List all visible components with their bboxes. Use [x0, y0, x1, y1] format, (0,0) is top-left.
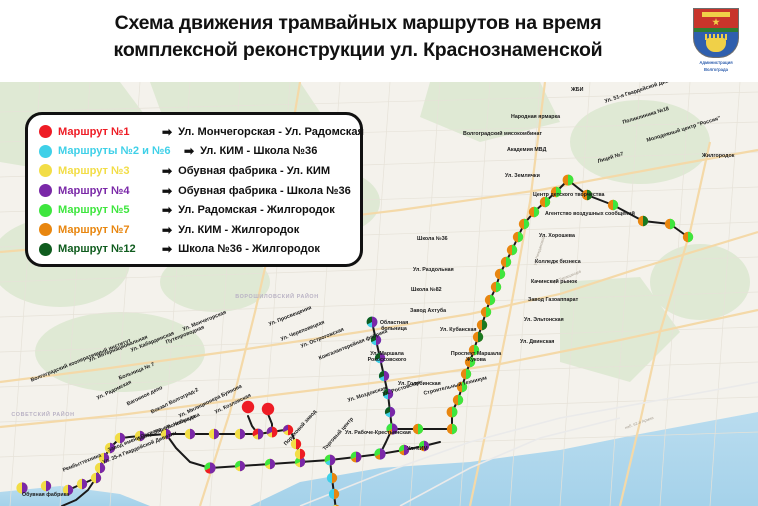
station-label-zemlyachki: Ул. Землячки — [505, 173, 540, 179]
arrow-icon: ➡ — [162, 203, 172, 217]
route-color-dot-3 — [39, 164, 52, 177]
route-desc-1: Ул. Мончегорская - Ул. Радомская — [178, 126, 364, 138]
route-color-dot-12 — [39, 243, 52, 256]
route-color-dot-5 — [39, 204, 52, 217]
emblem-caption-line1: Администрация — [688, 60, 744, 65]
markers-center-south — [204, 441, 429, 506]
station-label-akademiya-mvd: Академия МВД — [507, 147, 546, 153]
arrow-icon: ➡ — [162, 242, 172, 256]
title-line-1: Схема движения трамвайных маршрутов на в… — [48, 10, 668, 37]
legend-row-route-4[interactable]: Маршрут №4 ➡ Обувная фабрика - Школа №36 — [39, 181, 350, 201]
legend-row-route-1[interactable]: Маршрут №1 ➡ Ул. Мончегорская - Ул. Радо… — [39, 122, 350, 142]
tram-scheme-page: ВОРОШИЛОВСКИЙ РАЙОН СОВЕТСКИЙ РАЙОН ул. … — [0, 0, 758, 506]
arrow-icon: ➡ — [184, 144, 194, 158]
station-label-horosheva: Ул. Хорошева — [539, 233, 575, 239]
station-label-kolledzh-biznesa: Колледж бизнеса — [535, 259, 581, 265]
markers-west — [16, 401, 305, 495]
shield-graphic — [693, 8, 739, 58]
station-label-prospekt-zhukova: Проспект Маршала Жукова — [450, 351, 502, 363]
station-label-dvinskaya: Ул. Двинская — [520, 339, 554, 345]
station-label-razdolnaya: Ул. Раздольная — [413, 267, 454, 273]
route-name-12: Маршрут №12 — [58, 243, 162, 255]
route-desc-3: Обувная фабрика - Ул. КИМ — [178, 165, 330, 177]
legend-row-route-3[interactable]: Маршрут №3 ➡ Обувная фабрика - Ул. КИМ — [39, 161, 350, 181]
arrow-icon: ➡ — [162, 184, 172, 198]
route-desc-7: Ул. КИМ - Жилгородок — [178, 224, 299, 236]
route-desc-4: Обувная фабрика - Школа №36 — [178, 185, 351, 197]
arrow-icon: ➡ — [162, 223, 172, 237]
route-name-1: Маршрут №1 — [58, 126, 162, 138]
route-name-2-6: Маршруты №2 и №6 — [58, 145, 184, 157]
station-label-obuvnaya-fabrika: Обувная фабрика — [22, 492, 69, 498]
station-label-zhilgorodok: Жилгородок — [702, 153, 734, 159]
route-name-5: Маршрут №5 — [58, 204, 162, 216]
shield-wall-icon — [702, 12, 730, 17]
coat-of-arms-icon: Администрация Волгограда — [688, 8, 744, 76]
station-label-kachinskiy-rynok: Качинский рынок — [531, 279, 577, 285]
page-title: Схема движения трамвайных маршрутов на в… — [48, 10, 668, 64]
route-name-4: Маршрут №4 — [58, 185, 162, 197]
station-label-rokossovskogo: Ул. Маршала Рокоссовского — [358, 351, 416, 363]
page-header: Схема движения трамвайных маршрутов на в… — [0, 0, 758, 82]
route-desc-2-6: Ул. КИМ - Школа №36 — [200, 145, 317, 157]
arrow-icon: ➡ — [162, 125, 172, 139]
route-legend: Маршрут №1 ➡ Ул. Мончегорская - Ул. Радо… — [25, 112, 363, 267]
route-color-dot-7 — [39, 223, 52, 236]
route-color-dot-4 — [39, 184, 52, 197]
arrow-icon: ➡ — [162, 164, 172, 178]
legend-row-route-5[interactable]: Маршрут №5 ➡ Ул. Радомская - Жилгородок — [39, 200, 350, 220]
legend-row-route-12[interactable]: Маршрут №12 ➡ Школа №36 - Жилгородок — [39, 240, 350, 260]
station-label-shkola-36: Школа №36 — [417, 236, 448, 242]
station-label-raboche-krestyanskaya: Ул. Рабоче-Крестьянская — [345, 430, 411, 436]
station-label-centr-detskogo-tvorchestva: Центр детского творчества — [533, 192, 605, 198]
station-label-eltonskaya: Ул. Эльтонская — [524, 317, 564, 323]
title-line-2: комплексной реконструкции ул. Краснознам… — [48, 37, 668, 64]
station-label-kim: Ул. КИМ — [407, 446, 428, 452]
station-label-zavod-gazoapparat: Завод Газоаппарат — [528, 297, 578, 303]
emblem-caption-line2: Волгограда — [688, 67, 744, 72]
legend-row-route-7[interactable]: Маршрут №7 ➡ Ул. КИМ - Жилгородок — [39, 220, 350, 240]
route-color-dot-1 — [39, 125, 52, 138]
station-label-zavod-ahtuba: Завод Ахтуба — [410, 308, 446, 314]
station-label-agentstvo-vozdushnyh: Агентство воздушных сообщений — [545, 211, 635, 217]
route-color-dot-2-6 — [39, 145, 52, 158]
station-label-myasokombinat: Волгоградский мясокомбинат — [463, 131, 542, 137]
route-name-3: Маршрут №3 — [58, 165, 162, 177]
station-label-narodnaya-yarmarka: Народная ярмарка — [511, 114, 560, 120]
route-desc-5: Ул. Радомская - Жилгородок — [178, 204, 335, 216]
station-label-kubanskaya: Ул. Кубанская — [440, 327, 477, 333]
legend-row-route-2-6[interactable]: Маршруты №2 и №6 ➡ Ул. КИМ - Школа №36 — [39, 142, 350, 162]
station-label-zhbi: ЖБИ — [571, 87, 583, 93]
station-label-shkola-82: Школа №82 — [411, 287, 442, 293]
route-desc-12: Школа №36 - Жилгородок — [178, 243, 320, 255]
route-name-7: Маршрут №7 — [58, 224, 162, 236]
